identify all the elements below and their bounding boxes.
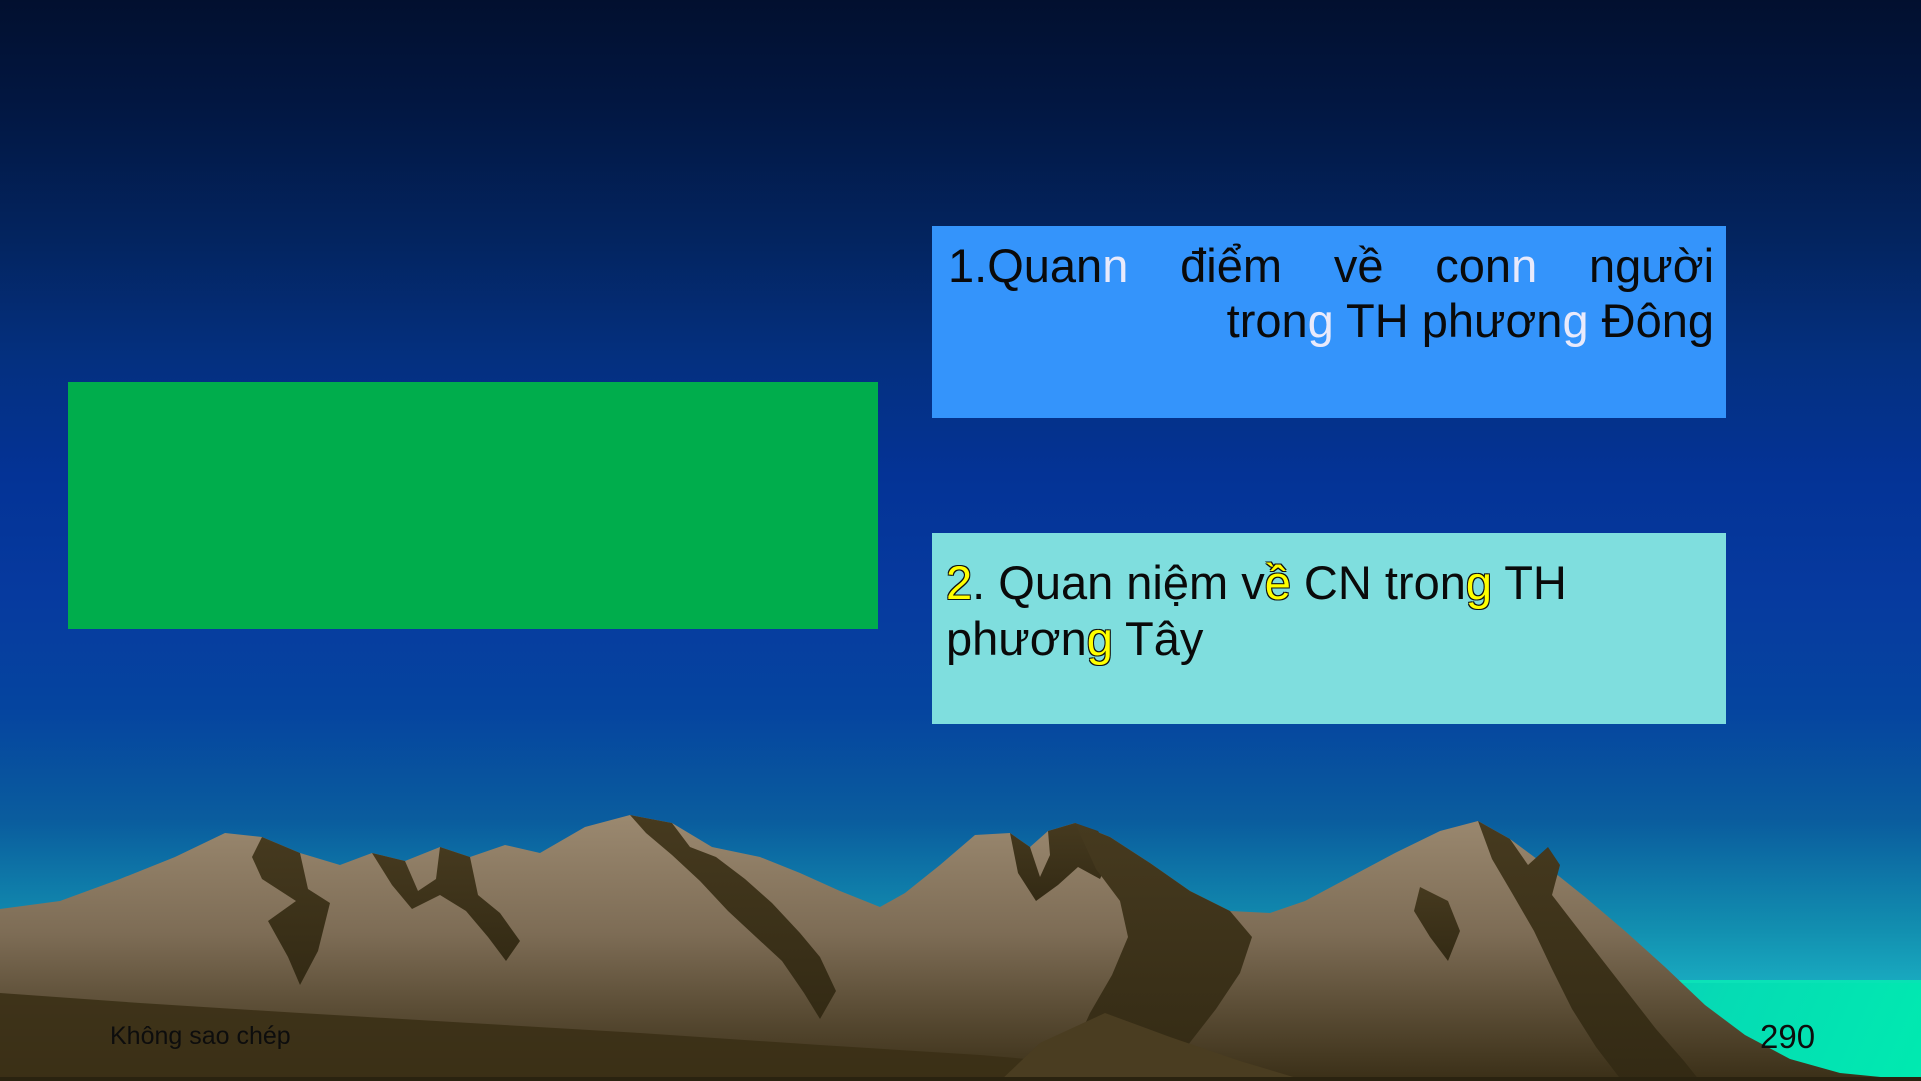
item-2-word-cn-trong: CN tron: [1291, 556, 1466, 609]
item-1-glyph-g-1: g: [1308, 294, 1334, 347]
item-2-line-2: phương Tây: [946, 612, 1203, 665]
item-1-glyph-n-2: n: [1511, 239, 1537, 292]
item-1-word-nguoi: ngườ: [1589, 239, 1704, 292]
item-2-word-quan-niem-ve: . Quan niệm v: [972, 556, 1265, 609]
item-1-word-con: con: [1435, 239, 1511, 292]
item-2-line-1: 2. Quan niệm về CN trong TH: [946, 556, 1567, 609]
item-2-word-tay: Tây: [1113, 612, 1204, 665]
item-1-line-2: trong TH phương Đông: [948, 293, 1714, 348]
item-1-word-quan: 1.Quan: [948, 239, 1102, 292]
item-2-glyph-e: ề: [1265, 556, 1291, 609]
content-box-item-1[interactable]: 1.Quann điểm về conn người trong TH phươ…: [932, 226, 1726, 418]
footer-copyright-note: Không sao chép: [110, 1022, 291, 1051]
item-1-word-ve: về: [1334, 239, 1384, 292]
item-1-word-trong: tron: [1227, 294, 1308, 347]
content-box-item-1-text: 1.Quann điểm về conn người trong TH phươ…: [948, 238, 1714, 349]
item-2-glyph-g-2: g: [1087, 612, 1113, 665]
item-1-glyph-g-2: g: [1562, 294, 1588, 347]
item-1-glyph-i: i: [1704, 239, 1714, 292]
item-1-word-th-phuong: TH phươn: [1334, 294, 1563, 347]
green-placeholder-box[interactable]: [68, 382, 878, 629]
content-box-item-2[interactable]: 2. Quan niệm về CN trong TH phương Tây: [932, 533, 1726, 724]
item-1-word-dong: Đông: [1589, 294, 1714, 347]
item-2-word-phuong: phươn: [946, 612, 1087, 665]
item-1-line-1: 1.Quann điểm về conn người: [948, 238, 1714, 293]
item-2-glyph-number-2: 2: [946, 556, 972, 609]
item-2-glyph-g-1: g: [1466, 556, 1492, 609]
item-2-word-th: TH: [1492, 556, 1567, 609]
content-box-item-2-text: 2. Quan niệm về CN trong TH phương Tây: [946, 555, 1712, 668]
item-1-word-diem: điểm: [1180, 239, 1282, 292]
page-number: 290: [1760, 1018, 1815, 1056]
presentation-slide: 1.Quann điểm về conn người trong TH phươ…: [0, 0, 1921, 1081]
item-1-glyph-n-1: n: [1102, 239, 1128, 292]
